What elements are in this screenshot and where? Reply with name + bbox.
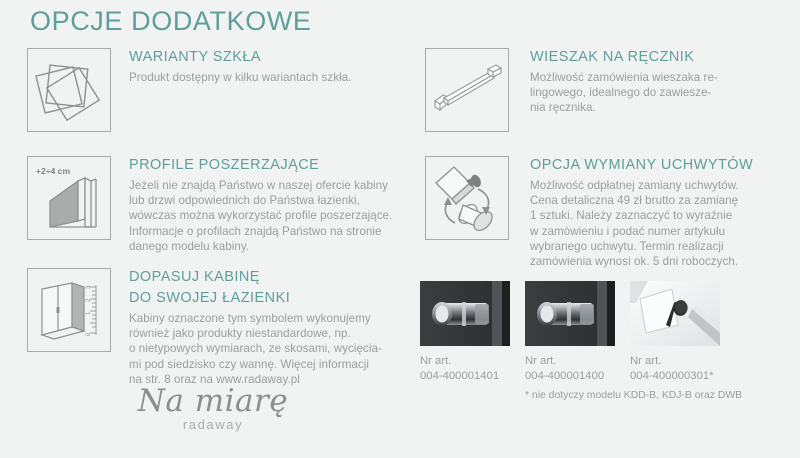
product-row: Nr art. 004-400001401	[420, 281, 790, 383]
text-line: lingowego, idealnego do zawiesze-	[530, 85, 718, 100]
additional-options-page: OPCJE DODATKOWE WARIANTY SZKŁA Produkt d…	[0, 0, 800, 458]
na-miare-logo: Na miarę radaway	[118, 383, 308, 432]
feature-text: Produkt dostępny w kilku wariantach szkł…	[129, 70, 351, 85]
feature-text: Kabiny oznaczone tym symbolem wykonujemy…	[129, 311, 382, 387]
svg-text:3: 3	[86, 285, 92, 289]
text-line: o nietypowych wymiarach, ze skosami, wyc…	[129, 341, 382, 356]
text-line: nia ręcznika.	[530, 100, 718, 115]
text-line: lub drzwi odpowiednich do Państwa łazien…	[129, 193, 392, 208]
feature-text: Możliwość zamówienia wieszaka re- lingow…	[530, 70, 718, 116]
text-line: 1 sztuki. Należy zaznaczyć to wyraźnie	[530, 208, 753, 223]
feature-towel-rail: WIESZAK NA RĘCZNIK Możliwość zamówienia …	[400, 48, 718, 132]
custom-cabin-icon: 3 2 1 0	[27, 268, 111, 352]
caption-line: 004-400000301*	[630, 369, 720, 384]
caption-line: Nr art.	[420, 354, 510, 369]
feature-title: PROFILE POSZERZAJĄCE	[129, 157, 392, 174]
product-item[interactable]: Nr art. 004-400001400	[525, 281, 615, 383]
caption-line: 004-400001401	[420, 369, 510, 384]
handle-swap-icon	[425, 156, 509, 240]
product-caption: Nr art. 004-400001401	[420, 354, 510, 383]
feature-body: WIESZAK NA RĘCZNIK Możliwość zamówienia …	[530, 48, 718, 116]
hook-handle-light-photo	[630, 281, 720, 346]
feature-custom-cabin: 3 2 1 0 DOPASUJ KABINĘ DO SWOJEJ ŁAZIENK…	[0, 268, 382, 387]
caption-line: Nr art.	[525, 354, 615, 369]
feature-body: DOPASUJ KABINĘ DO SWOJEJ ŁAZIENKI Kabiny…	[129, 268, 382, 387]
text-line: wówczas można wykorzystać profile poszer…	[129, 208, 392, 223]
chrome-knob-handle-dark-photo	[420, 281, 510, 346]
svg-text:1: 1	[86, 311, 92, 315]
page-title: OPCJE DODATKOWE	[30, 6, 312, 37]
icon-label-text: +2÷4 cm	[36, 166, 70, 176]
feature-title: WIESZAK NA RĘCZNIK	[530, 49, 718, 66]
text-line: Informacje o profilach znajdą Państwo na…	[129, 224, 392, 239]
product-caption: Nr art. 004-400000301*	[630, 354, 720, 383]
feature-body: WARIANTY SZKŁA Produkt dostępny w kilku …	[129, 48, 351, 85]
feature-glass-variants: WARIANTY SZKŁA Produkt dostępny w kilku …	[0, 48, 351, 132]
product-item[interactable]: Nr art. 004-400000301*	[630, 281, 720, 383]
text-line: w zamówieniu i podać numer artykułu	[530, 224, 753, 239]
logo-brand-text: radaway	[118, 417, 308, 432]
feature-handle-swap: OPCJA WYMIANY UCHWYTÓW Możliwość odpłatn…	[400, 156, 753, 269]
logo-script-text: Na miarę	[118, 383, 308, 419]
text-line: Możliwość zamówienia wieszaka re-	[530, 70, 718, 85]
feature-widening-profiles: +2÷4 cm PROFILE POSZERZAJĄCE Jeżeli n	[0, 156, 392, 254]
caption-line: Nr art.	[630, 354, 720, 369]
feature-title-second-line: DO SWOJEJ ŁAZIENKI	[129, 290, 382, 307]
text-line: zamówienia wynosi ok. 5 dni roboczych.	[530, 254, 753, 269]
glass-variants-icon	[27, 48, 111, 132]
products-footnote: * nie dotyczy modelu KDD-B, KDJ-B oraz D…	[525, 390, 790, 401]
feature-title: DOPASUJ KABINĘ	[129, 269, 382, 286]
text-line: również jako produkty niestandardowe, np…	[129, 326, 382, 341]
text-line: danego modelu kabiny.	[129, 239, 392, 254]
product-list: Nr art. 004-400001401	[420, 281, 790, 401]
text-line: wybranego uchwytu. Termin realizacji	[530, 239, 753, 254]
towel-rail-icon	[425, 48, 509, 132]
feature-body: OPCJA WYMIANY UCHWYTÓW Możliwość odpłatn…	[530, 156, 753, 269]
text-line: Jeżeli nie znajdą Państwo w naszej oferc…	[129, 178, 392, 193]
text-line: Kabiny oznaczone tym symbolem wykonujemy	[129, 311, 382, 326]
text-line: mi pod siedzisko czy wannę. Więcej infor…	[129, 357, 382, 372]
feature-body: PROFILE POSZERZAJĄCE Jeżeli nie znajdą P…	[129, 156, 392, 254]
feature-text: Jeżeli nie znajdą Państwo w naszej oferc…	[129, 178, 392, 254]
text-line: Możliwość odpłatnej zamiany uchwytów.	[530, 178, 753, 193]
widening-profile-icon: +2÷4 cm	[27, 156, 111, 240]
chrome-knob-handle-dark-photo-2	[525, 281, 615, 346]
product-caption: Nr art. 004-400001400	[525, 354, 615, 383]
product-item[interactable]: Nr art. 004-400001401	[420, 281, 510, 383]
text-line: Cena detaliczna 49 zł brutto za zamianę	[530, 193, 753, 208]
feature-title: OPCJA WYMIANY UCHWYTÓW	[530, 157, 753, 174]
text-line: Produkt dostępny w kilku wariantach szkł…	[129, 70, 351, 85]
feature-title: WARIANTY SZKŁA	[129, 49, 351, 66]
caption-line: 004-400001400	[525, 369, 615, 384]
feature-text: Możliwość odpłatnej zamiany uchwytów. Ce…	[530, 178, 753, 269]
